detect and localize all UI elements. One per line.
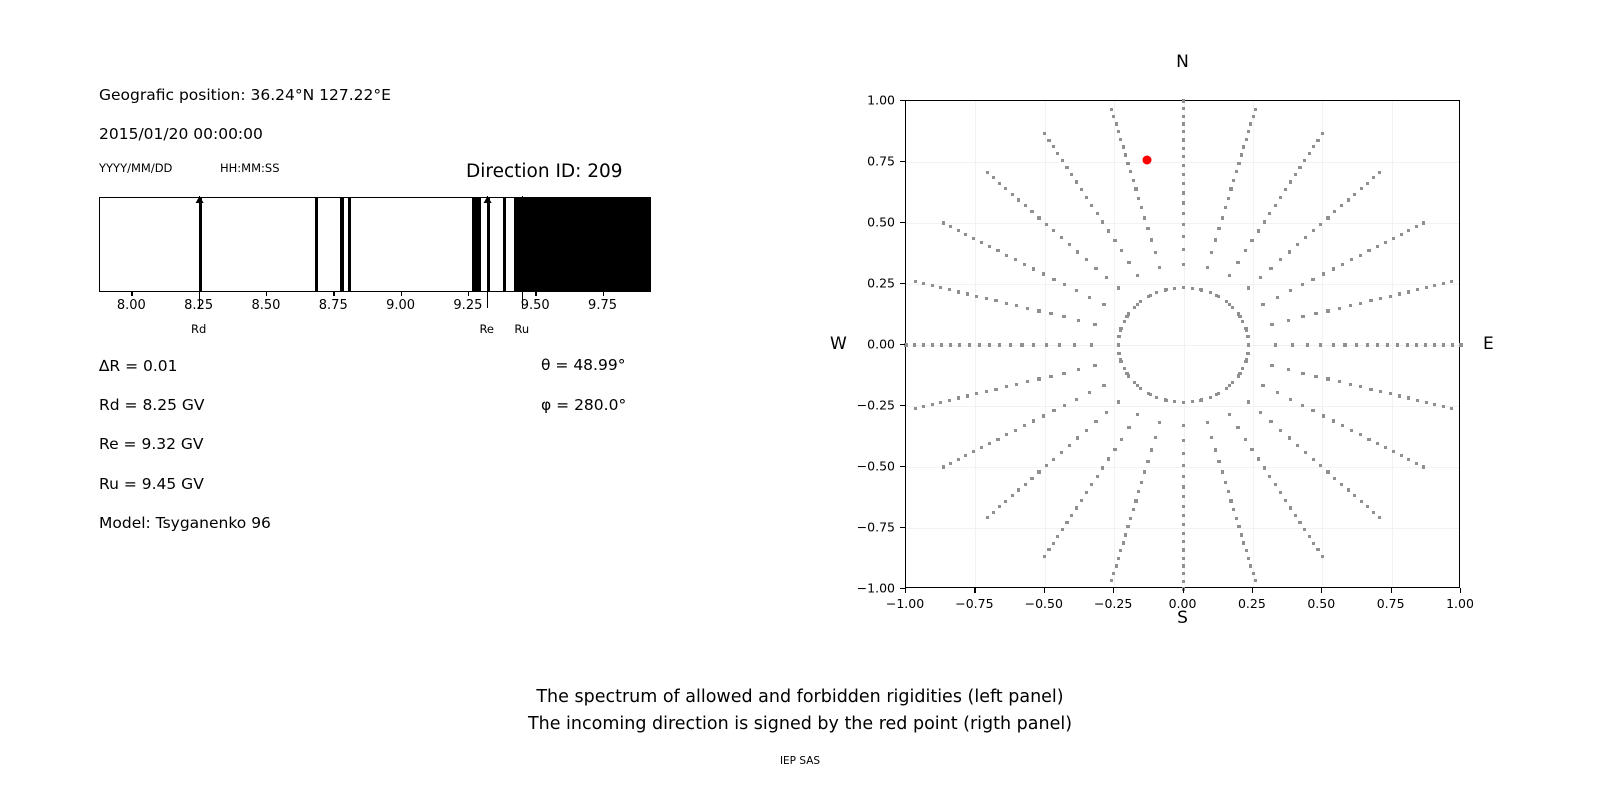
direction-point	[1241, 320, 1244, 323]
y-axis-tick	[900, 100, 905, 101]
direction-point	[1360, 500, 1363, 503]
direction-point	[1182, 523, 1185, 526]
direction-point	[1158, 266, 1161, 269]
direction-point	[1249, 122, 1252, 125]
direction-point	[1107, 457, 1110, 460]
direction-point	[1407, 290, 1410, 293]
direction-point	[992, 511, 995, 514]
direction-point	[1228, 274, 1231, 277]
direction-point	[1359, 302, 1362, 305]
direction-point	[1274, 204, 1277, 207]
direction-point	[1242, 541, 1245, 544]
direction-point	[988, 245, 991, 248]
direction-point	[1425, 286, 1428, 289]
direction-point	[1353, 494, 1356, 497]
x-axis-tick-label: 1.00	[1446, 596, 1474, 611]
direction-point	[1004, 187, 1007, 190]
direction-point	[1284, 188, 1287, 191]
direction-point	[1182, 263, 1185, 266]
direction-point	[1158, 421, 1161, 424]
direction-point	[1303, 159, 1306, 162]
geographic-position-label: Geografic position: 36.24°N 127.22°E	[99, 86, 391, 104]
direction-point	[1289, 506, 1292, 509]
direction-point	[1367, 438, 1370, 441]
direction-point	[1117, 400, 1120, 403]
direction-point	[1146, 227, 1149, 230]
direction-point	[1301, 315, 1304, 318]
direction-point	[1134, 499, 1137, 502]
direction-point	[1349, 304, 1352, 307]
direction-point	[1350, 429, 1353, 432]
direction-point	[1407, 396, 1410, 399]
y-axis-tick	[900, 405, 905, 406]
direction-point	[1288, 436, 1291, 439]
direction-point	[1182, 223, 1185, 226]
rigidity-marker-rd	[199, 196, 200, 308]
direction-point	[1333, 477, 1336, 480]
direction-point	[1136, 413, 1139, 416]
direction-point	[1122, 145, 1125, 148]
direction-point	[1182, 130, 1185, 133]
direction-point	[1061, 159, 1064, 162]
direction-point	[1217, 227, 1220, 230]
direction-point	[1119, 327, 1122, 330]
x-axis-tick	[1460, 588, 1461, 593]
rigidity-marker-label: Rd	[191, 322, 206, 336]
direction-point	[1063, 404, 1066, 407]
param-rd: Rd = 8.25 GV	[99, 396, 205, 414]
direction-point	[1298, 521, 1301, 524]
direction-point	[1442, 343, 1445, 346]
direction-point	[1062, 315, 1065, 318]
y-axis-tick	[900, 161, 905, 162]
direction-point	[1090, 204, 1093, 207]
direction-point	[1206, 421, 1209, 424]
compass-label-south: S	[1177, 608, 1188, 628]
direction-point	[1350, 258, 1353, 261]
direction-point	[1376, 245, 1379, 248]
y-axis-tick-label: −0.75	[857, 520, 895, 535]
y-axis-tick-label: 1.00	[867, 93, 895, 108]
direction-point	[1224, 206, 1227, 209]
footer-note: IEP SAS	[0, 755, 1600, 767]
direction-point	[996, 249, 999, 252]
axis-tick-label: 9.25	[453, 298, 482, 313]
direction-point	[1241, 367, 1244, 370]
direction-point	[1147, 392, 1150, 395]
x-axis-tick	[1252, 588, 1253, 593]
x-axis-tick-label: 0.00	[1169, 596, 1197, 611]
direction-point	[1042, 414, 1045, 417]
direction-point	[1384, 241, 1387, 244]
direction-point	[1254, 108, 1257, 111]
forbidden-band	[472, 198, 482, 291]
time-format-hint: HH:MM:SS	[220, 161, 280, 175]
direction-point	[1052, 229, 1055, 232]
direction-point	[1032, 419, 1035, 422]
direction-point	[1110, 108, 1113, 111]
direction-point	[1058, 343, 1061, 346]
rigidity-marker-re	[487, 196, 488, 308]
direction-point	[1115, 122, 1118, 125]
direction-point	[913, 343, 916, 346]
direction-point	[1422, 221, 1425, 224]
direction-point	[964, 454, 967, 457]
direction-map-panel: N S W E −1.00−0.75−0.50−0.250.000.250.50…	[905, 100, 1460, 588]
direction-point	[1244, 249, 1247, 252]
direction-point	[1347, 198, 1350, 201]
direction-point	[1052, 409, 1055, 412]
direction-point	[1112, 572, 1115, 575]
direction-point	[1024, 483, 1027, 486]
direction-point	[957, 396, 960, 399]
direction-point	[972, 450, 975, 453]
direction-point	[1268, 475, 1271, 478]
direction-point	[1182, 138, 1185, 141]
caption-line-1: The spectrum of allowed and forbidden ri…	[0, 684, 1600, 711]
direction-point	[1237, 525, 1240, 528]
direction-point	[1252, 115, 1255, 118]
direction-point	[1056, 535, 1059, 538]
direction-point	[914, 407, 917, 410]
direction-point	[1389, 392, 1392, 395]
direction-point	[1259, 276, 1262, 279]
direction-point	[1182, 580, 1185, 583]
direction-point	[1425, 401, 1428, 404]
direction-point	[1090, 343, 1093, 346]
forbidden-band	[503, 198, 506, 291]
direction-point	[1376, 343, 1379, 346]
direction-point	[986, 516, 989, 519]
direction-point	[1389, 295, 1392, 298]
direction-point	[1191, 400, 1194, 403]
direction-point	[1308, 152, 1311, 155]
direction-point	[1062, 372, 1065, 375]
direction-point	[1227, 197, 1230, 200]
direction-point	[1244, 360, 1247, 363]
direction-point	[1043, 555, 1046, 558]
direction-point	[1379, 390, 1382, 393]
direction-point	[1235, 170, 1238, 173]
direction-point	[1353, 193, 1356, 196]
rigidity-marker-head	[195, 196, 203, 203]
direction-point	[1372, 176, 1375, 179]
direction-point	[985, 297, 988, 300]
direction-point	[1433, 343, 1436, 346]
direction-point	[1400, 454, 1403, 457]
direction-point	[1242, 145, 1245, 148]
forbidden-band	[514, 198, 651, 291]
direction-point	[1416, 288, 1419, 291]
axis-tick-label: 9.75	[588, 298, 617, 313]
direction-point	[975, 295, 978, 298]
axis-tick	[603, 292, 604, 296]
x-axis-tick	[1183, 588, 1184, 593]
direction-point	[1229, 499, 1232, 502]
direction-point	[1017, 488, 1020, 491]
gridline	[906, 406, 1459, 407]
direction-point	[1124, 153, 1127, 156]
direction-point	[1217, 460, 1220, 463]
direction-point	[1341, 424, 1344, 427]
direction-point	[978, 343, 981, 346]
direction-point	[1004, 500, 1007, 503]
direction-point	[939, 401, 942, 404]
direction-point	[1303, 528, 1306, 531]
direction-point	[1416, 399, 1419, 402]
direction-point	[1005, 433, 1008, 436]
direction-point	[1132, 179, 1135, 182]
axis-tick-label: 8.75	[319, 298, 348, 313]
direction-point	[1182, 286, 1185, 289]
direction-point	[1120, 438, 1123, 441]
axis-tick	[333, 292, 334, 296]
compass-label-east: E	[1483, 334, 1494, 354]
direction-point	[1308, 535, 1311, 538]
rigidity-marker-head	[483, 196, 491, 203]
direction-point	[1415, 225, 1418, 228]
direction-point	[1133, 306, 1136, 309]
gridline	[1322, 101, 1323, 587]
direction-point	[1231, 306, 1234, 309]
direction-point	[1231, 381, 1234, 384]
direction-point	[1026, 307, 1029, 310]
direction-point	[1261, 303, 1264, 306]
gridline	[906, 528, 1459, 529]
direction-point	[1123, 320, 1126, 323]
direction-point	[966, 292, 969, 295]
direction-point	[1124, 533, 1127, 536]
direction-point	[1433, 284, 1436, 287]
direction-point	[1424, 343, 1427, 346]
direction-point	[1261, 384, 1264, 387]
direction-point	[988, 442, 991, 445]
direction-point	[1326, 470, 1329, 473]
direction-point	[1296, 444, 1299, 447]
direction-point	[1240, 153, 1243, 156]
direction-point	[1063, 283, 1066, 286]
direction-point	[975, 392, 978, 395]
gridline	[906, 467, 1459, 468]
direction-point	[1182, 464, 1185, 467]
direction-point	[1235, 517, 1238, 520]
direction-point	[1115, 564, 1118, 567]
compass-label-north: N	[1176, 52, 1189, 72]
direction-point	[1182, 191, 1185, 194]
direction-point	[1459, 343, 1462, 346]
direction-point	[1372, 511, 1375, 514]
direction-point	[1247, 557, 1250, 560]
direction-point	[964, 233, 967, 236]
direction-point	[980, 241, 983, 244]
direction-point	[1150, 448, 1153, 451]
direction-point	[1075, 180, 1078, 183]
direction-point	[1065, 521, 1068, 524]
direction-point	[1119, 138, 1122, 141]
direction-point	[931, 343, 934, 346]
direction-point	[1136, 303, 1139, 306]
direction-point	[1122, 541, 1125, 544]
direction-point	[1294, 514, 1297, 517]
direction-point	[1105, 411, 1108, 414]
direction-point	[1217, 295, 1220, 298]
direction-point	[1322, 414, 1325, 417]
direction-point	[1005, 385, 1008, 388]
param-ru: Ru = 9.45 GV	[99, 475, 204, 493]
direction-point	[1030, 477, 1033, 480]
direction-point	[1126, 525, 1129, 528]
axis-tick-label: 8.00	[117, 298, 146, 313]
direction-point	[1102, 303, 1105, 306]
direction-point	[1355, 343, 1358, 346]
direction-point	[1137, 197, 1140, 200]
direction-point	[1182, 99, 1185, 102]
direction-point	[1182, 248, 1185, 251]
direction-point	[1045, 223, 1048, 226]
direction-point	[1359, 385, 1362, 388]
direction-point	[1274, 483, 1277, 486]
direction-point	[1236, 261, 1239, 264]
direction-point	[1304, 236, 1307, 239]
direction-point	[998, 505, 1001, 508]
direction-point	[1314, 375, 1317, 378]
direction-point	[1037, 377, 1040, 380]
gridline	[1114, 101, 1115, 587]
direction-point	[1246, 352, 1249, 355]
direction-point	[1250, 448, 1253, 451]
y-axis-tick	[900, 222, 905, 223]
direction-point	[1101, 220, 1104, 223]
direction-point	[949, 462, 952, 465]
direction-point	[1246, 335, 1249, 338]
direction-point	[994, 388, 997, 391]
direction-point	[1065, 166, 1068, 169]
direction-point	[985, 390, 988, 393]
datetime-label: 2015/01/20 00:00:00	[99, 125, 263, 143]
direction-point	[1105, 276, 1108, 279]
direction-point	[942, 465, 945, 468]
direction-point	[1045, 343, 1048, 346]
direction-point	[1076, 436, 1079, 439]
direction-point	[1143, 216, 1146, 219]
rigidity-marker-head	[518, 196, 526, 203]
axis-tick	[468, 292, 469, 296]
direction-point	[1182, 173, 1185, 176]
direction-point	[1075, 289, 1078, 292]
direction-point	[949, 225, 952, 228]
direction-point	[1210, 251, 1213, 254]
direction-point	[1366, 343, 1369, 346]
direction-point	[1005, 254, 1008, 257]
direction-point	[1274, 343, 1277, 346]
direction-point	[1311, 278, 1314, 281]
incoming-direction-point	[1142, 156, 1151, 165]
direction-point	[1276, 296, 1279, 299]
direction-point	[1096, 212, 1099, 215]
direction-point	[1406, 343, 1409, 346]
direction-point	[1113, 448, 1116, 451]
direction-point	[1070, 514, 1073, 517]
direction-point	[1288, 250, 1291, 253]
direction-point	[1155, 291, 1158, 294]
direction-point	[1244, 327, 1247, 330]
direction-point	[1085, 429, 1088, 432]
direction-point	[1090, 483, 1093, 486]
x-axis-tick-label: 0.75	[1377, 596, 1405, 611]
direction-point	[1011, 494, 1014, 497]
direction-point	[1284, 499, 1287, 502]
x-axis-tick-label: −0.25	[1094, 596, 1132, 611]
y-axis-tick	[900, 466, 905, 467]
param-model: Model: Tsyganenko 96	[99, 514, 271, 532]
direction-point	[1332, 419, 1335, 422]
direction-point	[1052, 145, 1055, 148]
direction-point	[1247, 130, 1250, 133]
x-axis-tick-label: −0.50	[1025, 596, 1063, 611]
direction-point	[1139, 387, 1142, 390]
direction-point	[1415, 462, 1418, 465]
direction-point	[1237, 374, 1240, 377]
direction-point	[1289, 180, 1292, 183]
direction-point	[1047, 139, 1050, 142]
direction-point	[1052, 278, 1055, 281]
direction-point	[1009, 343, 1012, 346]
direction-point	[1287, 368, 1290, 371]
direction-point	[1032, 267, 1035, 270]
direction-point	[1268, 212, 1271, 215]
direction-point	[1316, 548, 1319, 551]
direction-point	[1117, 286, 1120, 289]
direction-point	[1077, 368, 1080, 371]
direction-point	[957, 229, 960, 232]
direction-point	[1259, 411, 1262, 414]
forbidden-band	[340, 198, 345, 291]
direction-point	[1127, 374, 1130, 377]
direction-point	[996, 438, 999, 441]
direction-point	[1117, 557, 1120, 560]
direction-point	[948, 288, 951, 291]
direction-point	[1200, 398, 1203, 401]
direction-point	[1075, 398, 1078, 401]
direction-point	[1378, 516, 1381, 519]
direction-point	[1200, 288, 1203, 291]
direction-point	[1254, 579, 1257, 582]
direction-point	[1182, 235, 1185, 238]
direction-point	[1080, 499, 1083, 502]
direction-point	[1422, 465, 1425, 468]
gridline	[1392, 101, 1393, 587]
direction-point	[1117, 130, 1120, 133]
direction-point	[1304, 451, 1307, 454]
direction-point	[1049, 375, 1052, 378]
direction-point	[1119, 549, 1122, 552]
direction-point	[1301, 404, 1304, 407]
direction-point	[1085, 491, 1088, 494]
direction-point	[1182, 439, 1185, 442]
direction-point	[1237, 312, 1240, 315]
y-axis-tick-label: −0.25	[857, 398, 895, 413]
direction-point	[1061, 528, 1064, 531]
rigidity-marker-label: Ru	[514, 322, 529, 336]
direction-point	[1296, 243, 1299, 246]
direction-point	[1094, 420, 1097, 423]
direction-point	[1134, 187, 1137, 190]
direction-point	[1023, 263, 1026, 266]
direction-point	[1294, 173, 1297, 176]
direction-point	[1326, 216, 1329, 219]
direction-point	[992, 176, 995, 179]
direction-point	[1113, 239, 1116, 242]
